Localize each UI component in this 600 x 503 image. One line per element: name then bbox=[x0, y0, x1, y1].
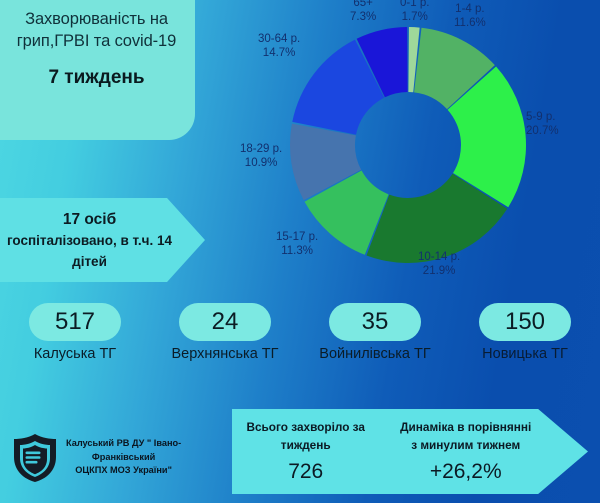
dynamics-caption-line-1: Динаміка в порівнянні bbox=[400, 420, 531, 434]
community-card: 35 Войнилівська ТГ bbox=[300, 303, 450, 399]
donut-slice-label-name: 1-4 р. bbox=[454, 2, 486, 16]
total-cases-cell: Всього захворіло за тиждень 726 bbox=[232, 409, 379, 494]
age-group-donut-chart: 0-1 р.1.7%1-4 р.11.6%5-9 р.20.7%10-14 р.… bbox=[258, 0, 558, 296]
donut-slice-label: 10-14 р.21.9% bbox=[418, 250, 460, 279]
donut-slice-label-name: 10-14 р. bbox=[418, 250, 460, 264]
org-line-2: Франківський bbox=[66, 451, 181, 464]
total-cases-caption-line-1: Всього захворіло за bbox=[246, 420, 365, 434]
total-cases-caption-line-2: тиждень bbox=[281, 438, 331, 452]
community-name: Новицька ТГ bbox=[482, 345, 568, 363]
community-stats-row: 517 Калуська ТГ 24 Верхнянська ТГ 35 Вой… bbox=[0, 303, 600, 399]
donut-slice-label: 15-17 р.11.3% bbox=[276, 230, 318, 259]
dynamics-cell: Динаміка в порівнянні з минулим тижнем +… bbox=[379, 409, 552, 494]
page-title: Захворюваність на грип,ГРВІ та covid-19 bbox=[10, 8, 183, 53]
dynamics-caption: Динаміка в порівнянні з минулим тижнем bbox=[400, 419, 531, 453]
community-count: 35 bbox=[329, 303, 421, 341]
hospitalization-text-line-2: дітей bbox=[72, 252, 107, 272]
hospitalization-banner: 17 осіб госпіталізовано, в т.ч. 14 дітей bbox=[0, 198, 205, 282]
donut-slice-label-name: 30-64 р. bbox=[258, 32, 300, 46]
donut-slice-label-percent: 10.9% bbox=[240, 156, 282, 170]
organization-name: Калуський РВ ДУ " Івано- Франківський ОЦ… bbox=[66, 437, 181, 477]
community-name: Калуська ТГ bbox=[34, 345, 116, 363]
donut-slice-label-name: 15-17 р. bbox=[276, 230, 318, 244]
community-name: Войнилівська ТГ bbox=[319, 345, 430, 363]
donut-slice-label-name: 65+ bbox=[350, 0, 376, 10]
donut-slice-label-percent: 20.7% bbox=[526, 124, 559, 138]
donut-slice-label: 18-29 р.10.9% bbox=[240, 142, 282, 171]
donut-slice-label-percent: 11.6% bbox=[454, 16, 486, 30]
org-line-1: Калуський РВ ДУ " Івано- bbox=[66, 437, 181, 450]
donut-slice-label: 5-9 р.20.7% bbox=[526, 110, 559, 139]
org-line-3: ОЦКПХ МОЗ України" bbox=[66, 464, 181, 477]
donut-slice-label: 1-4 р.11.6% bbox=[454, 2, 486, 31]
community-card: 150 Новицька ТГ bbox=[450, 303, 600, 399]
donut-slice-label-percent: 1.7% bbox=[400, 10, 429, 24]
donut-slice-label-name: 5-9 р. bbox=[526, 110, 559, 124]
dynamics-value: +26,2% bbox=[430, 460, 502, 484]
footer-branding: Калуський РВ ДУ " Івано- Франківський ОЦ… bbox=[0, 412, 232, 503]
title-card: Захворюваність на грип,ГРВІ та covid-19 … bbox=[0, 0, 195, 140]
summary-banner: Всього захворіло за тиждень 726 Динаміка… bbox=[232, 409, 588, 494]
community-name: Верхнянська ТГ bbox=[171, 345, 278, 363]
donut-slice-label: 0-1 р.1.7% bbox=[400, 0, 429, 25]
dynamics-caption-line-2: з минулим тижнем bbox=[411, 438, 520, 452]
hospitalization-count: 17 осіб bbox=[63, 208, 116, 231]
donut-slice-label-name: 0-1 р. bbox=[400, 0, 429, 10]
donut-slice-label: 65+7.3% bbox=[350, 0, 376, 25]
total-cases-caption: Всього захворіло за тиждень bbox=[246, 419, 365, 453]
shield-logo-icon bbox=[12, 433, 58, 483]
donut-slice-label-percent: 7.3% bbox=[350, 10, 376, 24]
infographic-root: Захворюваність на грип,ГРВІ та covid-19 … bbox=[0, 0, 600, 503]
community-count: 517 bbox=[29, 303, 121, 341]
donut-slice-label-percent: 11.3% bbox=[276, 244, 318, 258]
donut-slice-label-name: 18-29 р. bbox=[240, 142, 282, 156]
hospitalization-text-line-1: госпіталізовано, в т.ч. 14 bbox=[7, 231, 172, 251]
donut-slice-label: 30-64 р.14.7% bbox=[258, 32, 300, 61]
total-cases-value: 726 bbox=[288, 460, 323, 484]
donut-slice-label-percent: 21.9% bbox=[418, 264, 460, 278]
community-card: 24 Верхнянська ТГ bbox=[150, 303, 300, 399]
donut-slice-label-percent: 14.7% bbox=[258, 46, 300, 60]
donut-slices bbox=[290, 27, 526, 263]
week-label: 7 тиждень bbox=[10, 67, 183, 89]
community-count: 24 bbox=[179, 303, 271, 341]
community-card: 517 Калуська ТГ bbox=[0, 303, 150, 399]
community-count: 150 bbox=[479, 303, 571, 341]
